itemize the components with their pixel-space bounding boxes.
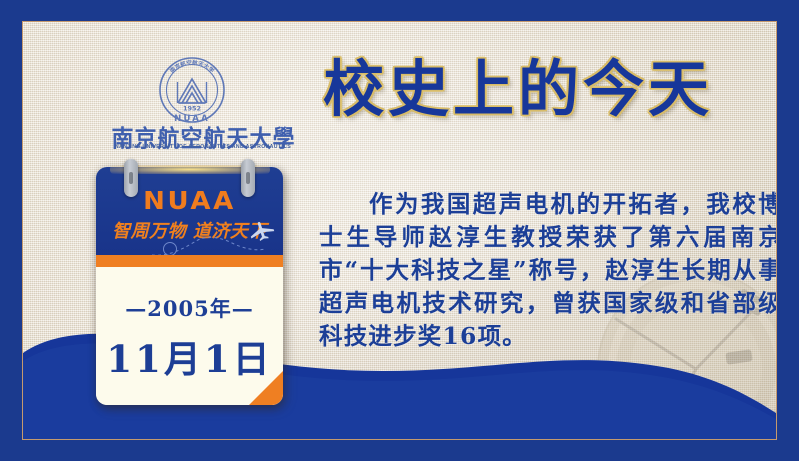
poster-frame-inner-line <box>22 21 777 440</box>
calendar-clip-right <box>241 159 255 197</box>
calendar-clip-left <box>124 159 138 197</box>
poster-root: 1952 NUAA 南京航空航天大学 南京航空航天大學 NANJING UNIV… <box>0 0 799 461</box>
